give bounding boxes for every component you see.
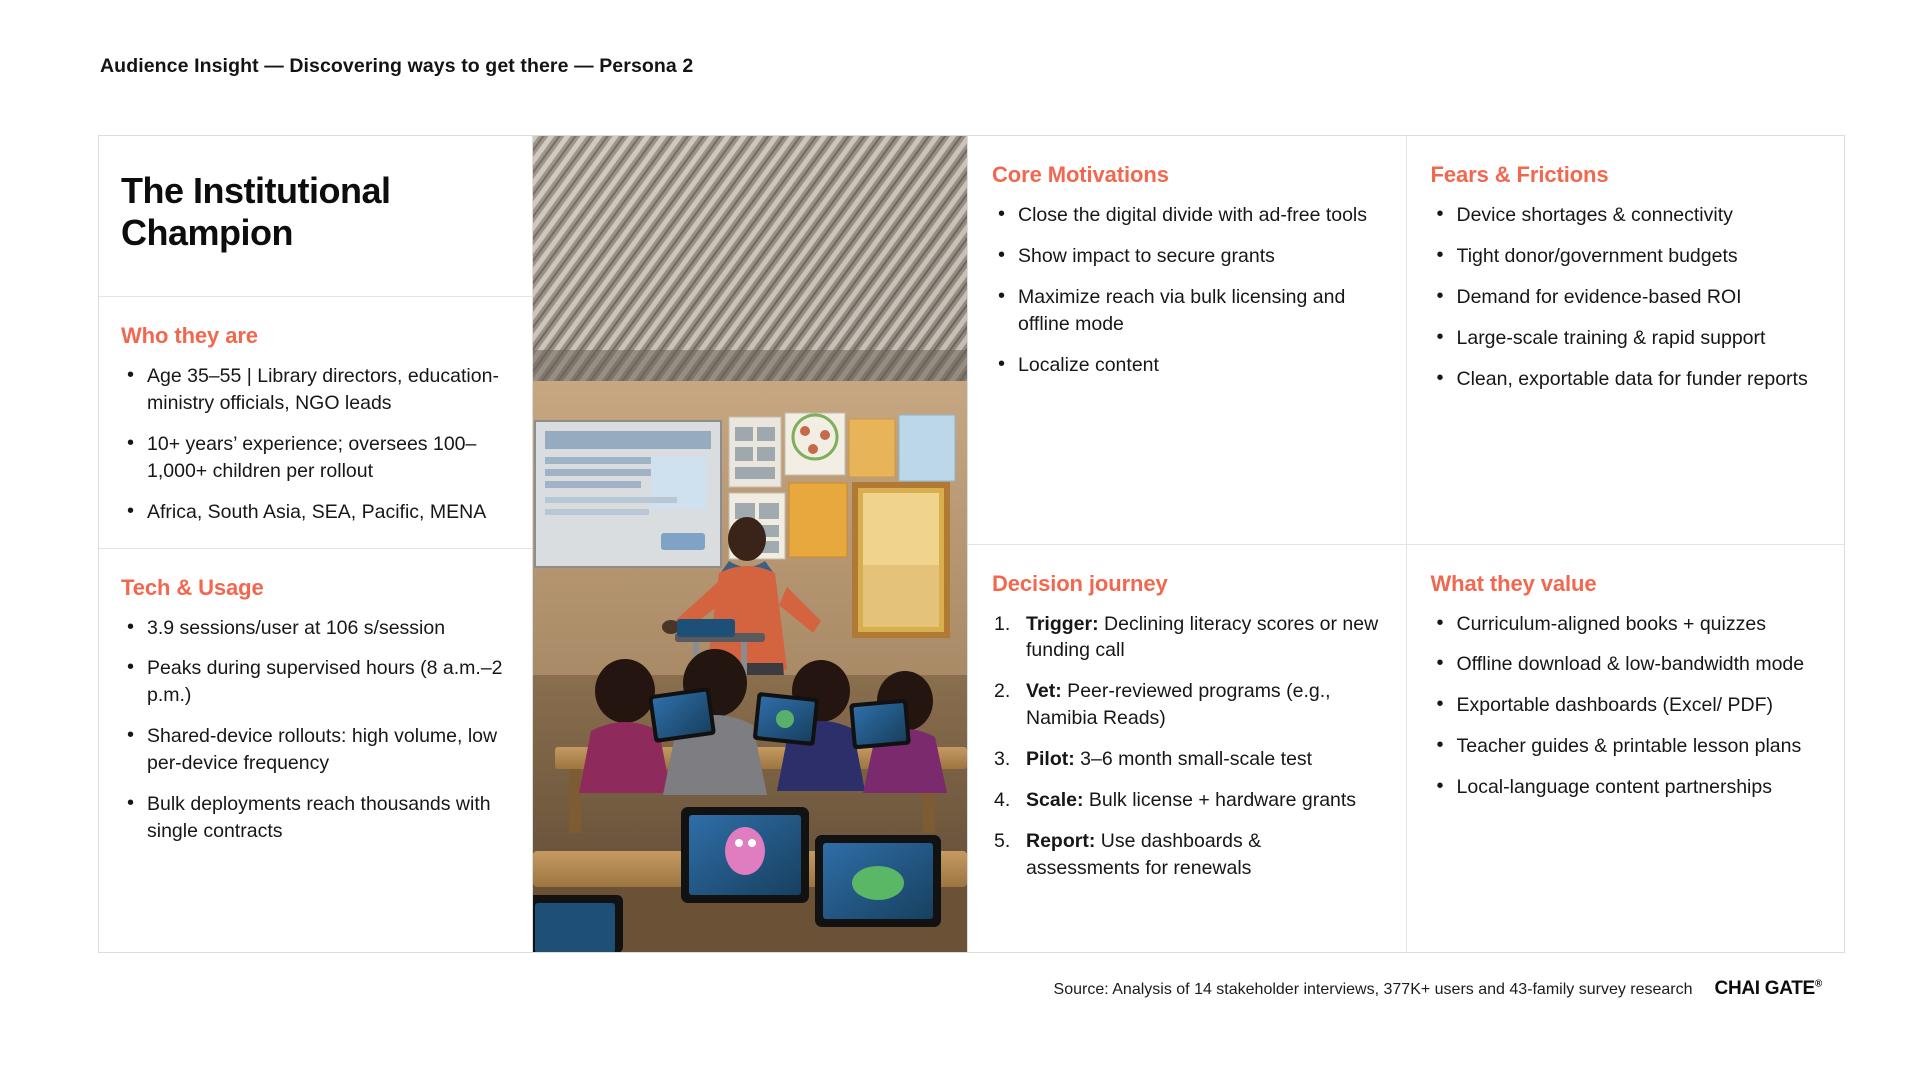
fears-frictions-cell: Fears & Frictions Device shortages & con…	[1406, 136, 1845, 544]
page-title: Audience Insight — Discovering ways to g…	[100, 55, 693, 78]
list-item: Close the digital divide with ad-free to…	[992, 202, 1380, 229]
list-item: Local-language content partnerships	[1431, 774, 1819, 801]
step-text: Bulk license + hardware grants	[1083, 789, 1356, 811]
footer: Source: Analysis of 14 stakeholder inter…	[1054, 978, 1822, 1000]
step-text: Peer-reviewed programs (e.g., Namibia Re…	[1026, 680, 1331, 729]
list-item: Tight donor/government budgets	[1431, 243, 1819, 270]
list-item: Clean, exportable data for funder report…	[1431, 366, 1819, 393]
list-item: Show impact to secure grants	[992, 243, 1380, 270]
right-row-top: Core Motivations Close the digital divid…	[968, 136, 1844, 544]
slide-canvas: Audience Insight — Discovering ways to g…	[0, 0, 1920, 1080]
step-label: Scale:	[1026, 789, 1083, 811]
decision-journey-cell: Decision journey Trigger: Declining lite…	[968, 545, 1406, 953]
step-label: Pilot:	[1026, 748, 1075, 770]
list-item: Age 35–55 | Library directors, education…	[121, 363, 508, 417]
step-label: Trigger:	[1026, 613, 1099, 635]
decision-journey-list: Trigger: Declining literacy scores or ne…	[992, 611, 1380, 882]
classroom-photo	[533, 136, 967, 952]
source-note: Source: Analysis of 14 stakeholder inter…	[1054, 981, 1693, 999]
tech-usage-title: Tech & Usage	[121, 575, 508, 601]
step-text: 3–6 month small-scale test	[1075, 748, 1312, 770]
list-item: Shared-device rollouts: high volume, low…	[121, 723, 508, 777]
list-item: Maximize reach via bulk licensing and of…	[992, 284, 1380, 338]
who-they-are-cell: Who they are Age 35–55 | Library directo…	[99, 296, 532, 548]
brand-logo: CHAI GATE®	[1715, 978, 1822, 1000]
list-item: Device shortages & connectivity	[1431, 202, 1819, 229]
list-item: Large-scale training & rapid support	[1431, 325, 1819, 352]
list-item: Pilot: 3–6 month small-scale test	[992, 746, 1380, 773]
decision-journey-title: Decision journey	[992, 571, 1380, 597]
list-item: Trigger: Declining literacy scores or ne…	[992, 611, 1380, 665]
persona-grid: The Institutional Champion Who they are …	[98, 135, 1845, 953]
what-they-value-cell: What they value Curriculum-aligned books…	[1406, 545, 1845, 953]
what-they-value-list: Curriculum-aligned books + quizzes Offli…	[1431, 611, 1819, 802]
right-row-bottom: Decision journey Trigger: Declining lite…	[968, 544, 1844, 953]
persona-title: The Institutional Champion	[121, 170, 508, 255]
list-item: Africa, South Asia, SEA, Pacific, MENA	[121, 499, 508, 526]
right-columns: Core Motivations Close the digital divid…	[967, 136, 1844, 952]
list-item: Scale: Bulk license + hardware grants	[992, 787, 1380, 814]
who-they-are-list: Age 35–55 | Library directors, education…	[121, 363, 508, 526]
core-motivations-list: Close the digital divide with ad-free to…	[992, 202, 1380, 379]
fears-frictions-title: Fears & Frictions	[1431, 162, 1819, 188]
list-item: Exportable dashboards (Excel/ PDF)	[1431, 692, 1819, 719]
list-item: Demand for evidence-based ROI	[1431, 284, 1819, 311]
who-they-are-title: Who they are	[121, 323, 508, 349]
brand-name: CHAI GATE	[1715, 978, 1815, 999]
list-item: Bulk deployments reach thousands with si…	[121, 791, 508, 845]
classroom-photo-image	[533, 136, 967, 952]
fears-frictions-list: Device shortages & connectivity Tight do…	[1431, 202, 1819, 393]
core-motivations-cell: Core Motivations Close the digital divid…	[968, 136, 1406, 544]
list-item: Peaks during supervised hours (8 a.m.–2 …	[121, 655, 508, 709]
list-item: 3.9 sessions/user at 106 s/session	[121, 615, 508, 642]
tech-usage-cell: Tech & Usage 3.9 sessions/user at 106 s/…	[99, 548, 532, 867]
list-item: Vet: Peer-reviewed programs (e.g., Namib…	[992, 678, 1380, 732]
what-they-value-title: What they value	[1431, 571, 1819, 597]
registered-mark-icon: ®	[1815, 979, 1822, 990]
core-motivations-title: Core Motivations	[992, 162, 1380, 188]
step-label: Report:	[1026, 830, 1095, 852]
list-item: 10+ years’ experience; oversees 100–1,00…	[121, 431, 508, 485]
list-item: Teacher guides & printable lesson plans	[1431, 733, 1819, 760]
persona-name-cell: The Institutional Champion	[99, 136, 532, 296]
left-column: The Institutional Champion Who they are …	[99, 136, 533, 952]
list-item: Curriculum-aligned books + quizzes	[1431, 611, 1819, 638]
step-label: Vet:	[1026, 680, 1062, 702]
tech-usage-list: 3.9 sessions/user at 106 s/session Peaks…	[121, 615, 508, 845]
list-item: Localize content	[992, 352, 1380, 379]
list-item: Report: Use dashboards & assessments for…	[992, 828, 1380, 882]
list-item: Offline download & low-bandwidth mode	[1431, 651, 1819, 678]
